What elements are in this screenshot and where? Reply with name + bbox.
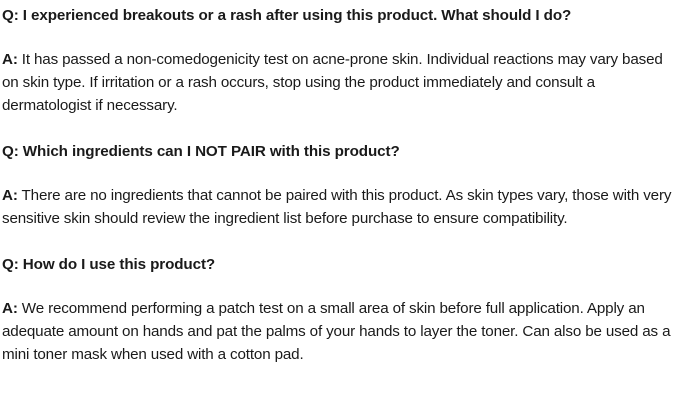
answer-body: There are no ingredients that cannot be … [2, 187, 671, 227]
faq-answer: A: It has passed a non-comedogenicity te… [2, 48, 673, 117]
faq-answer: A: We recommend performing a patch test … [2, 297, 673, 366]
faq-answer: A: There are no ingredients that cannot … [2, 184, 673, 230]
spacer [2, 27, 673, 48]
spacer [2, 230, 673, 253]
answer-prefix: A: [2, 187, 18, 204]
faq-question: Q: I experienced breakouts or a rash aft… [2, 4, 673, 27]
faq-question: Q: Which ingredients can I NOT PAIR with… [2, 140, 673, 163]
spacer [2, 117, 673, 140]
faq-item: Q: How do I use this product? A: We reco… [2, 253, 673, 366]
answer-body: We recommend performing a patch test on … [2, 300, 670, 363]
answer-body: It has passed a non-comedogenicity test … [2, 51, 663, 114]
answer-prefix: A: [2, 51, 18, 68]
faq-document: Q: I experienced breakouts or a rash aft… [0, 0, 679, 410]
faq-item: Q: Which ingredients can I NOT PAIR with… [2, 140, 673, 230]
spacer [2, 276, 673, 297]
spacer [2, 163, 673, 184]
faq-item: Q: I experienced breakouts or a rash aft… [2, 4, 673, 117]
faq-question: Q: How do I use this product? [2, 253, 673, 276]
answer-prefix: A: [2, 300, 18, 317]
